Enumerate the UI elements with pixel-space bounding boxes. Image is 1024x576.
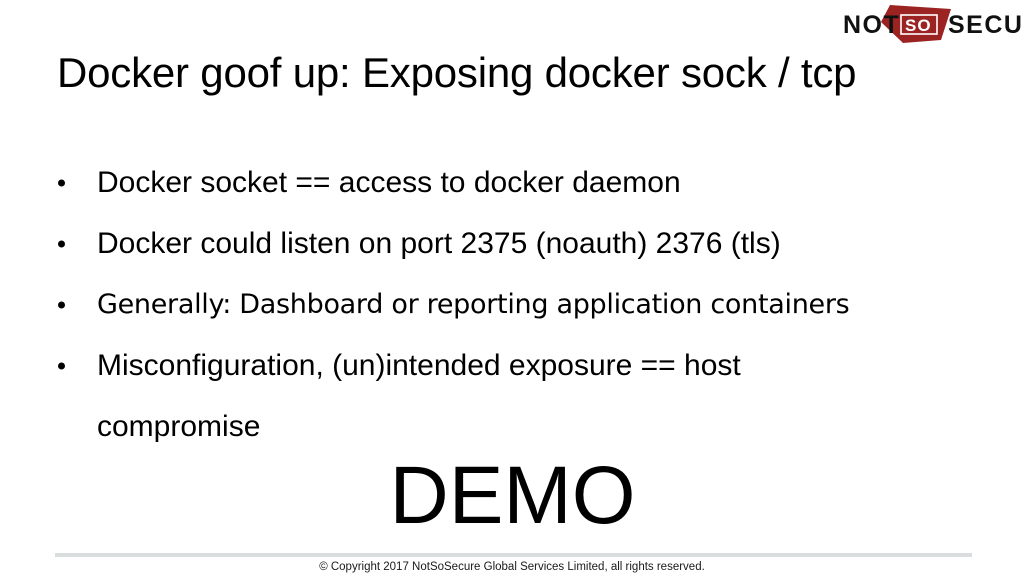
bullet-point-icon [58, 179, 65, 186]
bullet-item-continuation: compromise [55, 396, 985, 457]
logo-word-so: SO [905, 16, 932, 35]
bullet-item: Generally: Dashboard or reporting applic… [55, 274, 985, 335]
bullet-continuation-label: compromise [97, 409, 260, 445]
logo-word-secure: SECURE [948, 11, 1021, 39]
logo-graphic: NOT SO SECURE [843, 4, 1021, 44]
notsosecure-logo: NOT SO SECURE [843, 4, 1021, 44]
bullet-point-icon [58, 362, 65, 369]
bullet-item-label: Generally: Dashboard or reporting applic… [97, 287, 849, 323]
bullet-point-icon [58, 240, 65, 247]
slide-canvas: NOT SO SECURE Docker goof up: Exposing d… [0, 0, 1024, 576]
bullet-list: Docker socket == access to docker daemon… [55, 152, 985, 457]
bullet-item-label: Misconfiguration, (un)intended exposure … [97, 348, 741, 384]
bullet-item-label: Docker could listen on port 2375 (noauth… [97, 226, 781, 262]
logo-word-not: NOT [843, 11, 900, 39]
slide-title: Docker goof up: Exposing docker sock / t… [57, 50, 957, 96]
bullet-point-icon [58, 301, 65, 308]
demo-callout: DEMO [0, 452, 1024, 540]
footer-copyright: © Copyright 2017 NotSoSecure Global Serv… [0, 560, 1024, 575]
bullet-item: Docker could listen on port 2375 (noauth… [55, 213, 985, 274]
bullet-item: Docker socket == access to docker daemon [55, 152, 985, 213]
footer-divider [55, 553, 972, 557]
bullet-item-label: Docker socket == access to docker daemon [97, 165, 681, 201]
bullet-item: Misconfiguration, (un)intended exposure … [55, 335, 985, 396]
